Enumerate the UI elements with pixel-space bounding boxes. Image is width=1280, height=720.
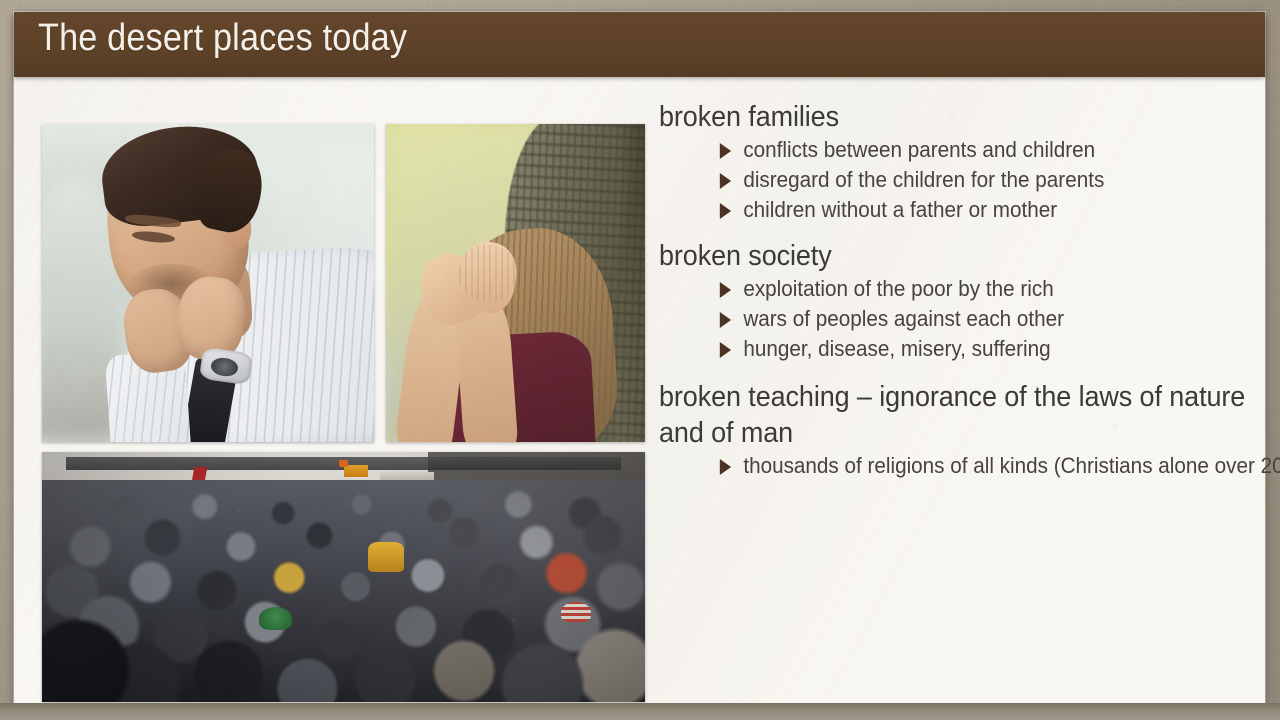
list-item: conflicts between parents and children bbox=[717, 135, 1280, 165]
distressed-woman-photo bbox=[386, 124, 645, 442]
list-item-label: conflicts between parents and children bbox=[743, 137, 1095, 162]
section-heading: broken teaching – ignorance of the laws … bbox=[659, 380, 1259, 451]
bullet-list: conflicts between parents and children d… bbox=[659, 135, 1259, 225]
list-item: disregard of the children for the parent… bbox=[717, 165, 1280, 195]
triangle-right-icon bbox=[720, 203, 731, 219]
pensive-man-photo bbox=[42, 124, 374, 442]
triangle-right-icon bbox=[720, 459, 731, 475]
content-section-broken-families: broken families conflicts between parent… bbox=[659, 100, 1259, 225]
winter-crowd-photo-content bbox=[42, 452, 645, 702]
triangle-right-icon bbox=[720, 312, 731, 328]
list-item-label: exploitation of the poor by the rich bbox=[743, 276, 1053, 301]
triangle-right-icon bbox=[720, 282, 731, 298]
photo-vignette bbox=[42, 452, 645, 702]
list-item-label: disregard of the children for the parent… bbox=[743, 167, 1104, 192]
slide-body-content: broken families conflicts between parent… bbox=[649, 90, 1265, 702]
list-item-label: wars of peoples against each other bbox=[743, 306, 1064, 331]
triangle-right-icon bbox=[720, 143, 731, 159]
section-heading: broken society bbox=[659, 239, 1259, 274]
bullet-list: thousands of religions of all kinds (Chr… bbox=[659, 451, 1259, 481]
presentation-slide: The desert places today bbox=[14, 12, 1265, 703]
slide-bottom-strip bbox=[0, 703, 1280, 720]
page-title: The desert places today bbox=[38, 17, 407, 60]
list-item: children without a father or mother bbox=[717, 195, 1280, 225]
triangle-right-icon bbox=[720, 173, 731, 189]
list-item: wars of peoples against each other bbox=[717, 304, 1280, 334]
tree-shadow bbox=[618, 124, 645, 442]
list-item-label: thousands of religions of all kinds (Chr… bbox=[743, 453, 1280, 478]
content-section-broken-teaching: broken teaching – ignorance of the laws … bbox=[659, 380, 1259, 481]
section-heading: broken families bbox=[659, 100, 1259, 135]
content-section-broken-society: broken society exploitation of the poor … bbox=[659, 239, 1259, 364]
list-item: exploitation of the poor by the rich bbox=[717, 274, 1280, 304]
distressed-woman-photo-content bbox=[386, 124, 645, 442]
triangle-right-icon bbox=[720, 342, 731, 358]
list-item: hunger, disease, misery, suffering bbox=[717, 334, 1280, 364]
winter-crowd-photo bbox=[42, 452, 645, 702]
list-item-label: hunger, disease, misery, suffering bbox=[743, 336, 1050, 361]
list-item-label: children without a father or mother bbox=[743, 197, 1057, 222]
list-item: thousands of religions of all kinds (Chr… bbox=[717, 451, 1280, 481]
slide-title-bar: The desert places today bbox=[14, 12, 1265, 77]
bullet-list: exploitation of the poor by the rich war… bbox=[659, 274, 1259, 364]
pensive-man-photo-content bbox=[42, 124, 374, 442]
